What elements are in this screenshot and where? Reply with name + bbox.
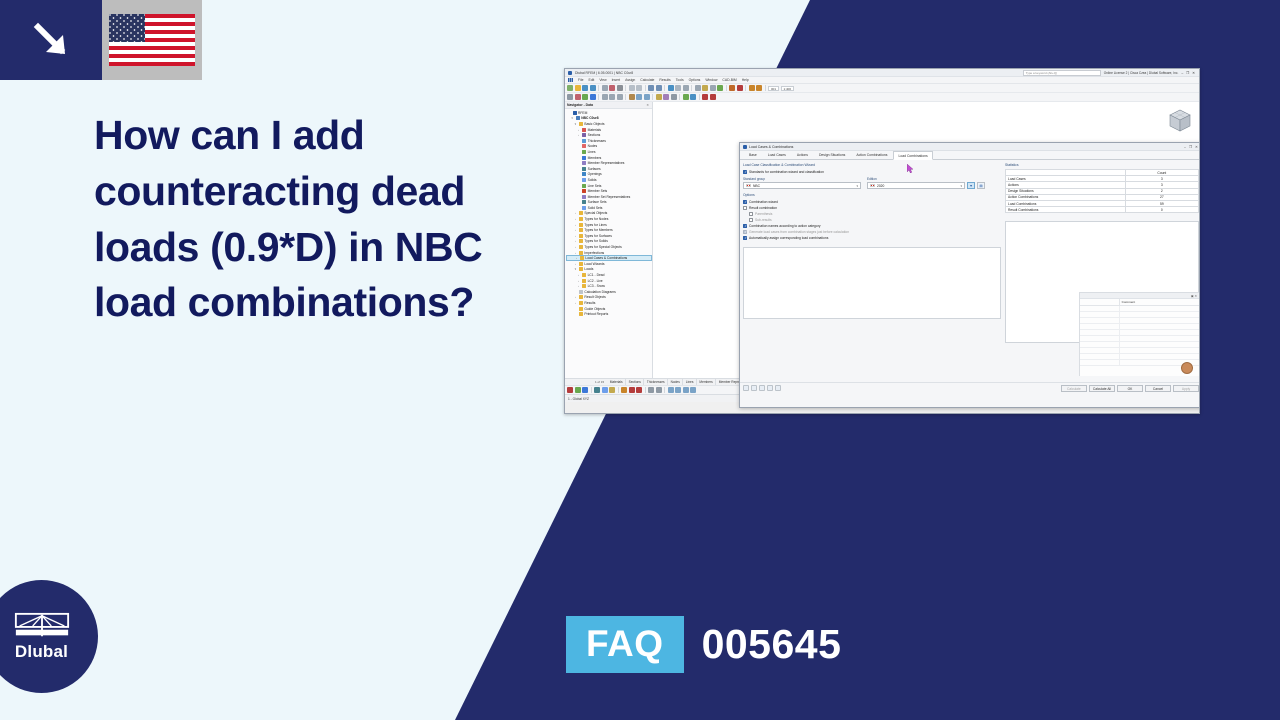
dialog-left-column: Load Case Classification & Combination W… [743, 163, 1001, 379]
tree-twisty-icon[interactable]: › [573, 301, 577, 305]
statistics-row: Result Combinations0 [1006, 207, 1199, 213]
tree-item-label: RFEM [578, 111, 587, 115]
pointer-icon[interactable] [567, 94, 573, 100]
tree-node-icon [573, 111, 577, 115]
canada-flag-icon [746, 184, 751, 188]
tree-node-icon [582, 150, 586, 154]
standards-checkbox-label: Standards for combination wizard and cla… [749, 170, 824, 174]
tree-item-label: Result Objects [584, 295, 605, 299]
tree-item-label: Calculation Diagrams [584, 290, 615, 294]
rfem-application-screenshot: Dlubal RFEM | 6.05.0001 | NBC C0ur8 Type… [564, 68, 1200, 414]
standard-group-select[interactable]: NBC ▾ [743, 182, 861, 189]
options-title: Options [743, 193, 1001, 197]
tree-node-icon [579, 234, 583, 238]
standard-fields-row: Standard group NBC ▾ Edition [743, 177, 1001, 189]
menu-item-view[interactable]: View [599, 78, 606, 82]
support-tool-icon[interactable] [609, 387, 615, 393]
hinges-icon[interactable] [663, 94, 669, 100]
window-controls[interactable]: – ❐ ✕ [1181, 71, 1196, 75]
tree-item-label: Types for Solids [584, 239, 607, 243]
import-icon[interactable] [743, 385, 749, 391]
tree-item-label: Openings [588, 172, 602, 176]
keyword-search-input[interactable]: Type a keyword (Alt+Q) [1023, 70, 1101, 76]
load-cases-icon[interactable] [756, 85, 762, 91]
tree-node-icon [579, 267, 583, 271]
tree-node-icon [579, 223, 583, 227]
visibility-icon[interactable] [683, 94, 689, 100]
view-cube-icon[interactable] [1165, 106, 1195, 136]
tree-item-label: Surface Sets [588, 200, 607, 204]
option-label: Combination names according to action ca… [749, 224, 820, 228]
tree-item-label: Solid Sets [588, 206, 603, 210]
menu-item-tools[interactable]: Tools [676, 78, 684, 82]
navigator-close-icon[interactable]: ✕ [646, 103, 650, 107]
calculate-button[interactable]: Calculate [1061, 385, 1087, 392]
dimension-tool-icon[interactable] [648, 387, 654, 393]
option-label: Parenthesis [755, 212, 772, 216]
tree-item-label: Member Representatives [588, 161, 625, 165]
app-title: Dlubal RFEM | 6.05.0001 | NBC C0ur8 [575, 71, 633, 75]
results-col-comment: Comment [1120, 299, 1199, 305]
print-icon[interactable] [617, 85, 623, 91]
tree-item-label: Special Objects [584, 211, 607, 215]
option-label: Generate load cases from combination sta… [749, 230, 849, 234]
tree-node-icon [582, 144, 586, 148]
menu-item-calculate[interactable]: Calculate [640, 78, 654, 82]
tree-twisty-icon[interactable]: › [574, 256, 578, 260]
chevron-down-icon[interactable]: ▾ [856, 184, 858, 188]
annotation-tool-icon[interactable] [656, 387, 662, 393]
calculate-all-button[interactable]: Calculate All [1089, 385, 1115, 392]
checkbox-box [749, 218, 753, 222]
faq-footer: FAQ 005645 [566, 616, 841, 673]
usa-flag-icon [102, 0, 202, 80]
faq-badge: FAQ [566, 616, 684, 673]
tree-node-icon [582, 178, 586, 182]
checkbox-box [749, 212, 753, 216]
bottom-tab-nodes[interactable]: Nodes [668, 379, 683, 385]
tree-twisty-icon[interactable]: › [577, 279, 581, 283]
settings-icon[interactable] [759, 385, 765, 391]
load-tool-icon[interactable] [621, 387, 627, 393]
dialog-tab-actions[interactable]: Actions [792, 150, 813, 159]
menu-item-cad-bim[interactable]: CAD-BIM [722, 78, 736, 82]
fit-view-icon[interactable] [636, 94, 642, 100]
tree-node-icon [582, 273, 586, 277]
faq-number: 005645 [702, 621, 842, 668]
tree-item-label: Types for Special Objects [584, 245, 621, 249]
node-select-icon[interactable] [575, 94, 581, 100]
rotate-icon[interactable] [629, 94, 635, 100]
section-title: Load Case Classification & Combination W… [743, 163, 1001, 167]
checkbox-box[interactable] [743, 200, 747, 204]
edit-standards-button[interactable]: ▤ [977, 182, 985, 189]
tree-item-label: LC3 - Snow [588, 284, 605, 288]
license-status: Online License 2 | Cisca Czea | Dlubal S… [1104, 71, 1179, 75]
bottom-tab-members[interactable]: Members [697, 379, 716, 385]
navigator-tree[interactable]: RFEM▾NBC C0ur8▾Basic Objects›Materials›S… [565, 109, 652, 317]
tree-twisty-icon[interactable]: › [573, 223, 577, 227]
page-title: How can I add counteracting dead loads (… [94, 108, 564, 331]
standard-group-value: NBC [753, 184, 854, 188]
tree-item-label: Imperfections [584, 251, 604, 255]
loads-icon[interactable] [749, 85, 755, 91]
copy-icon[interactable] [629, 85, 635, 91]
top-badges [0, 0, 202, 80]
dialog-tab-load-cases[interactable]: Load Cases [763, 150, 791, 159]
checkbox-box [743, 230, 747, 234]
cancel-button[interactable]: Cancel [1145, 385, 1171, 392]
tree-item-label: Member Set Representatives [588, 195, 631, 199]
tree-item-label: Members [588, 156, 602, 160]
tree-node-icon [582, 279, 586, 283]
tree-item-label: Load Wizards [584, 262, 604, 266]
tree-node-icon [582, 133, 586, 137]
surface-tool-icon[interactable] [594, 387, 600, 393]
ortho-mode-icon[interactable] [683, 387, 689, 393]
bottom-tab-thicknesses[interactable]: Thicknesses [644, 379, 668, 385]
results-panel-columns: Comment [1080, 299, 1199, 306]
navigator-panel: Navigator - Data ✕ RFEM▾NBC C0ur8▾Basic … [565, 102, 653, 378]
bottom-tab-sections[interactable]: Sections [626, 379, 644, 385]
tree-item-label: Lines [588, 150, 596, 154]
tree-twisty-icon[interactable]: › [573, 245, 577, 249]
tree-item-label: Load Cases & Combinations [585, 256, 627, 260]
statistics-row-count: 0 [1125, 207, 1198, 213]
filter-icon[interactable] [767, 385, 773, 391]
tree-item-label: Thicknesses [588, 139, 606, 143]
dialog-tab-design-situations[interactable]: Design Situations [814, 150, 850, 159]
tree-node-icon [579, 217, 583, 221]
work-area: Load Cases & Combinations – ❐ ✕ BaseLoad… [653, 102, 1199, 378]
print-preview-icon[interactable] [602, 85, 608, 91]
tree-twisty-icon[interactable]: ▾ [570, 116, 574, 120]
node-tool-icon[interactable] [567, 387, 573, 393]
filter-standards-button[interactable]: ▼ [967, 182, 975, 189]
export-icon[interactable] [751, 385, 757, 391]
tree-twisty-icon[interactable]: › [573, 262, 577, 266]
zoom-out-icon[interactable] [609, 94, 615, 100]
tree-node-icon [582, 189, 586, 193]
printout-icon[interactable] [609, 85, 615, 91]
tree-twisty-icon[interactable]: › [577, 128, 581, 132]
main-toolbar[interactable]: 001 1:400 [565, 84, 1199, 93]
menu-item-results[interactable]: Results [659, 78, 670, 82]
tree-twisty-icon[interactable]: ▾ [573, 267, 577, 271]
menu-item-edit[interactable]: Edit [588, 78, 594, 82]
left-preview-panel [743, 247, 1001, 319]
line-select-icon[interactable] [582, 94, 588, 100]
tree-twisty-icon[interactable]: › [577, 284, 581, 288]
standard-group-field: Standard group NBC ▾ [743, 177, 861, 189]
checkbox-box[interactable] [743, 170, 747, 174]
tree-item-label: Line Sets [588, 184, 602, 188]
snap-icon[interactable] [702, 85, 708, 91]
arrow-down-right-icon [0, 0, 102, 80]
ok-button[interactable]: OK [1117, 385, 1143, 392]
tree-item-label: Types for Members [584, 228, 612, 232]
standard-group-label: Standard group [743, 177, 861, 181]
tree-item-label: Solids [588, 178, 597, 182]
redo-icon[interactable] [656, 85, 662, 91]
tree-node-icon [582, 284, 586, 288]
tree-item-label: Types for Surfaces [584, 234, 612, 238]
calculate-icon[interactable] [729, 85, 735, 91]
tree-node-icon [582, 200, 586, 204]
tree-item-label: Materials [588, 128, 601, 132]
tree-item-label: Member Sets [588, 189, 608, 193]
menu-item-assign[interactable]: Assign [625, 78, 635, 82]
tree-twisty-icon[interactable]: › [573, 217, 577, 221]
tree-node-icon [579, 245, 583, 249]
tree-node-icon [579, 228, 583, 232]
new-file-icon[interactable] [567, 85, 573, 91]
results-panel-rows [1080, 306, 1199, 366]
option-label: Combination wizard [749, 200, 778, 204]
tree-node-icon [582, 195, 586, 199]
display-props-icon[interactable] [690, 94, 696, 100]
member-tool-icon[interactable] [582, 387, 588, 393]
member-select-icon[interactable] [590, 94, 596, 100]
tree-node-icon [579, 262, 583, 266]
nodal-load-icon[interactable] [629, 387, 635, 393]
zoom-in-icon[interactable] [602, 94, 608, 100]
snap-grid-icon[interactable] [675, 387, 681, 393]
tree-twisty-icon[interactable]: › [577, 273, 581, 277]
tree-item-label: LC2 - Live [588, 279, 603, 283]
save-icon[interactable] [582, 85, 588, 91]
statistics-panel: Statistics Count Load Cases3Actions3Desi… [1005, 163, 1199, 213]
app-logo-icon [568, 71, 572, 75]
tree-node-icon [582, 206, 586, 210]
tree-node-icon [582, 172, 586, 176]
secondary-toolbar[interactable] [565, 93, 1199, 102]
tree-item-label: Types for Nodes [584, 217, 608, 221]
option-automatically-assign-corresponding-load-combinations[interactable]: Automatically assign corresponding load … [743, 235, 1001, 241]
option-label: Automatically assign corresponding load … [749, 236, 828, 240]
loadcase-selector[interactable]: 001 [768, 86, 779, 91]
tree-node-icon [579, 312, 583, 316]
info-icon[interactable] [775, 385, 781, 391]
tree-item-label: Sections [588, 133, 601, 137]
tree-node-icon [582, 184, 586, 188]
option-label: Result combination [749, 206, 777, 210]
tree-node-icon [582, 139, 586, 143]
pan-icon[interactable] [617, 94, 623, 100]
diagram-icon[interactable] [710, 94, 716, 100]
dialog-title: Load Cases & Combinations [749, 145, 793, 149]
mesh-icon[interactable] [668, 387, 674, 393]
tree-node-icon [582, 156, 586, 160]
table-pager[interactable]: 1 of 15 [595, 380, 607, 384]
tree-item-label: Loads [584, 267, 593, 271]
undo-icon[interactable] [648, 85, 654, 91]
tree-twisty-icon[interactable]: ▾ [573, 122, 577, 126]
tree-twisty-icon[interactable]: › [573, 239, 577, 243]
statistics-table: Count Load Cases3Actions3Design Situatio… [1005, 169, 1199, 213]
dialog-icon [743, 145, 747, 149]
chevron-down-icon-2[interactable]: ▾ [960, 184, 962, 188]
results-side-panel: ▣ ✕ Comment [1079, 292, 1199, 376]
tree-node-icon [582, 128, 586, 132]
edition-value: 2020 [877, 184, 958, 188]
app-title-bar: Dlubal RFEM | 6.05.0001 | NBC C0ur8 Type… [565, 69, 1199, 77]
user-avatar[interactable] [1181, 362, 1193, 374]
dialog-tab-action-combinations[interactable]: Action Combinations [851, 150, 892, 159]
statistics-title: Statistics [1005, 163, 1199, 167]
tree-item-printout-reports[interactable]: Printout Reports [566, 311, 652, 317]
navigator-header: Navigator - Data ✕ [565, 102, 652, 109]
ortho-icon[interactable] [710, 85, 716, 91]
line-load-icon[interactable] [636, 387, 642, 393]
grid-icon[interactable] [695, 85, 701, 91]
iso-view-icon[interactable] [644, 94, 650, 100]
dialog-tab-base[interactable]: Base [744, 150, 762, 159]
render-mode-icon[interactable] [668, 85, 674, 91]
tree-node-icon [580, 256, 584, 260]
bottom-tab-lines[interactable]: Lines [683, 379, 697, 385]
checkbox-box[interactable] [743, 206, 747, 210]
options-list[interactable]: Combination wizardResult combinationPare… [743, 199, 1001, 241]
tree-node-icon [579, 301, 583, 305]
edition-select[interactable]: 2020 ▾ [867, 182, 965, 189]
tree-twisty-icon[interactable]: › [573, 228, 577, 232]
option-label: Sub-results [755, 218, 772, 222]
tree-twisty-icon[interactable]: › [577, 133, 581, 137]
status-coordinate-system: 1 - Global XYZ [568, 397, 589, 401]
dialog-footer: Calculate Calculate All OK Cancel Apply [740, 382, 1200, 393]
tree-item-label: Printout Reports [584, 312, 608, 316]
dialog-tab-load-combinations[interactable]: Load Combinations [893, 151, 932, 160]
tree-node-icon [579, 295, 583, 299]
bottom-tab-materials[interactable]: Materials [607, 379, 626, 385]
tree-item-label: Nodes [588, 144, 598, 148]
tree-node-icon [579, 251, 583, 255]
apply-button[interactable]: Apply [1173, 385, 1199, 392]
deformation-icon[interactable] [702, 94, 708, 100]
tree-node-icon [576, 116, 580, 120]
results-icon[interactable] [737, 85, 743, 91]
tree-node-icon [579, 122, 583, 126]
menu-item-help[interactable]: Help [742, 78, 749, 82]
open-file-icon[interactable] [575, 85, 581, 91]
canada-flag-icon-2 [870, 184, 875, 188]
tree-node-icon [579, 307, 583, 311]
supports-icon[interactable] [656, 94, 662, 100]
tree-item-label: LC1 - Dead [588, 273, 605, 277]
menu-item-insert[interactable]: Insert [612, 78, 620, 82]
tree-item-label: Basic Objects [584, 122, 604, 126]
line-tool-icon[interactable] [575, 387, 581, 393]
layers-icon[interactable] [717, 85, 723, 91]
object-snap-icon[interactable] [690, 387, 696, 393]
checkbox-box[interactable] [743, 236, 747, 240]
edition-label: Edition [867, 177, 985, 181]
dlubal-bridge-icon [14, 612, 70, 640]
tree-node-icon [579, 290, 583, 294]
tree-twisty-icon[interactable]: › [573, 251, 577, 255]
menu-bar[interactable]: File Edit View Insert Assign Calculate R… [565, 77, 1199, 84]
standards-checkbox[interactable]: Standards for combination wizard and cla… [743, 169, 1001, 175]
dimensions-icon[interactable] [671, 94, 677, 100]
tree-item-label: Results [584, 301, 595, 305]
tree-node-icon [579, 239, 583, 243]
app-grid-icon[interactable] [568, 78, 573, 82]
tree-twisty-icon[interactable]: › [573, 211, 577, 215]
section-view-icon[interactable] [683, 85, 689, 91]
tree-node-icon [579, 211, 583, 215]
wireframe-icon[interactable] [675, 85, 681, 91]
statistics-row-label: Result Combinations [1006, 207, 1126, 213]
tree-item-label: Types for Lines [584, 223, 606, 227]
edition-field: Edition 2020 ▾ ▼ ▤ [867, 177, 985, 189]
tree-twisty-icon[interactable]: › [573, 295, 577, 299]
tree-node-icon [582, 161, 586, 165]
navigator-title: Navigator - Data [567, 103, 593, 107]
save-as-icon[interactable] [590, 85, 596, 91]
checkbox-box[interactable] [743, 224, 747, 228]
menu-item-window[interactable]: Window [705, 78, 717, 82]
menu-item-file[interactable]: File [578, 78, 583, 82]
dialog-tab-bar[interactable]: BaseLoad CasesActionsDesign SituationsAc… [740, 151, 1200, 160]
tree-node-icon [582, 167, 586, 171]
menu-item-options[interactable]: Options [689, 78, 701, 82]
scale-selector[interactable]: 1:400 [781, 86, 795, 91]
dialog-window-controls[interactable]: – ❐ ✕ [1184, 145, 1199, 149]
dlubal-wordmark: Dlubal [15, 642, 68, 662]
tree-item-label: Guide Objects [584, 307, 605, 311]
tree-item-label: Surfaces [588, 167, 601, 171]
tree-item-label: NBC C0ur8 [581, 116, 598, 120]
tree-twisty-icon[interactable]: › [573, 234, 577, 238]
solid-tool-icon[interactable] [602, 387, 608, 393]
app-body: Navigator - Data ✕ RFEM▾NBC C0ur8▾Basic … [565, 102, 1199, 378]
paste-icon[interactable] [636, 85, 642, 91]
